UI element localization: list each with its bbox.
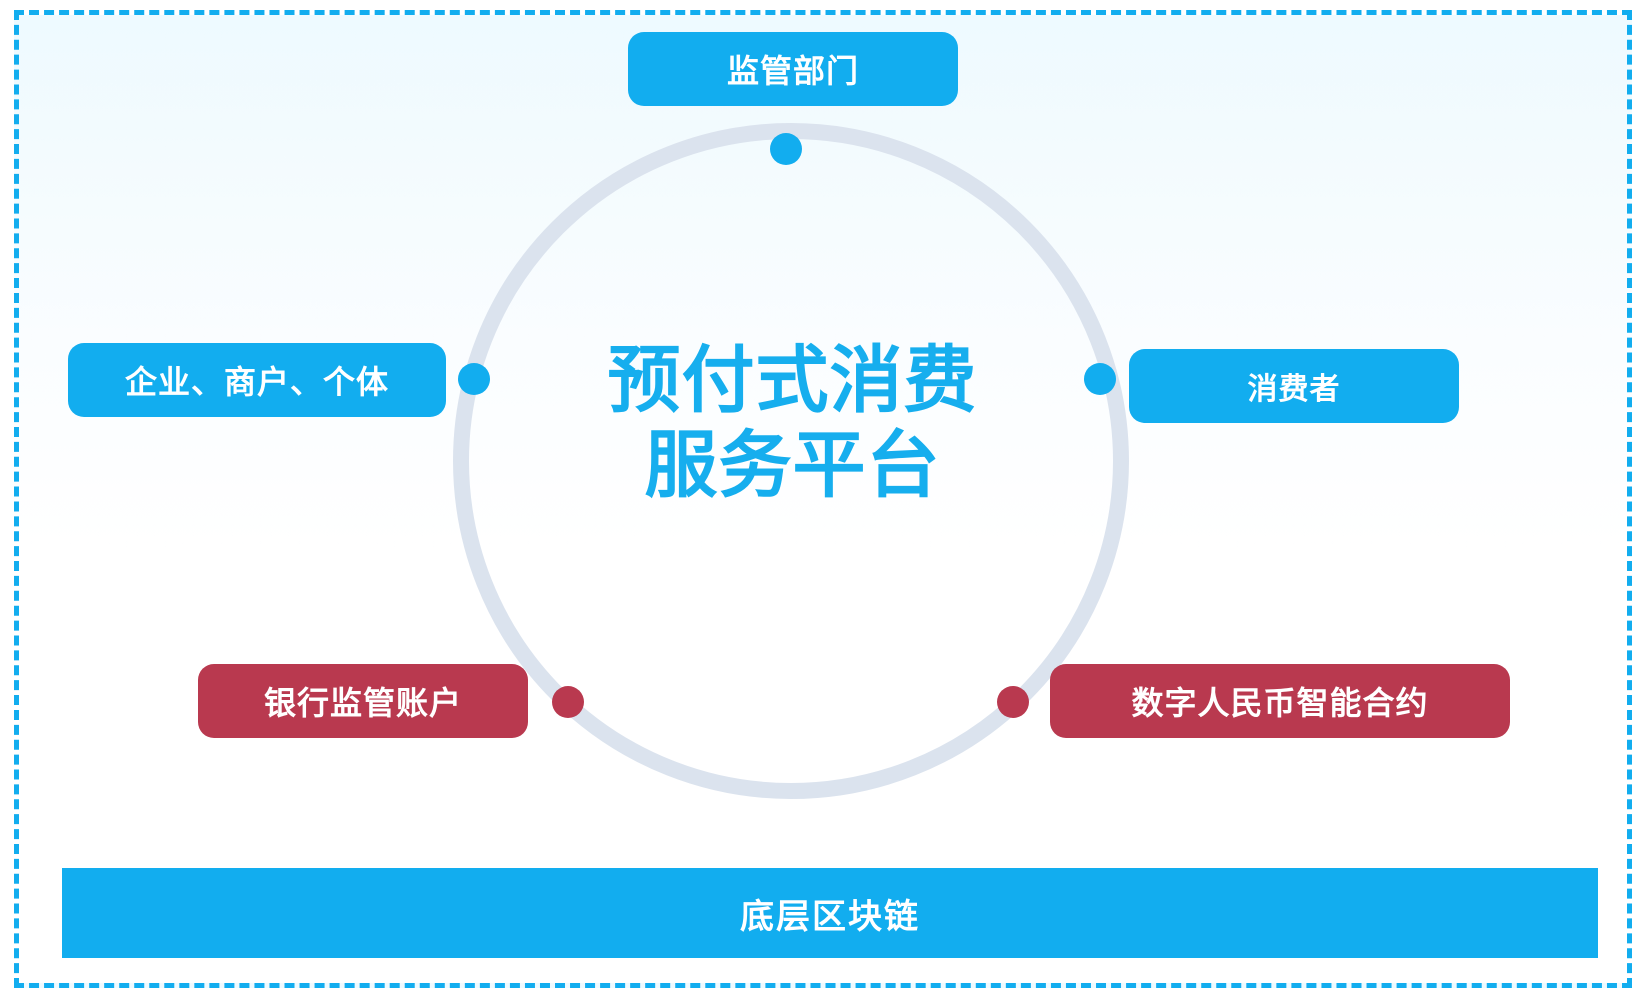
- diagram-canvas: 预付式消费 服务平台 监管部门 企业、商户、个体 消费者 银行监管账户 数字人民…: [0, 0, 1646, 1000]
- node-dot-left: [458, 363, 490, 395]
- node-pill-regulatory-department[interactable]: 监管部门: [628, 32, 958, 106]
- node-dot-top: [770, 133, 802, 165]
- node-dot-bottom-right: [997, 686, 1029, 718]
- platform-title: 预付式消费 服务平台: [565, 338, 1020, 509]
- foundation-bar-blockchain[interactable]: 底层区块链: [62, 868, 1598, 958]
- node-pill-enterprises-merchants-individuals[interactable]: 企业、商户、个体: [68, 343, 446, 417]
- node-pill-bank-regulatory-account[interactable]: 银行监管账户: [198, 664, 528, 738]
- node-dot-right: [1084, 363, 1116, 395]
- node-pill-digital-rmb-smart-contract[interactable]: 数字人民币智能合约: [1050, 664, 1510, 738]
- node-pill-consumers[interactable]: 消费者: [1129, 349, 1459, 423]
- node-dot-bottom-left: [552, 686, 584, 718]
